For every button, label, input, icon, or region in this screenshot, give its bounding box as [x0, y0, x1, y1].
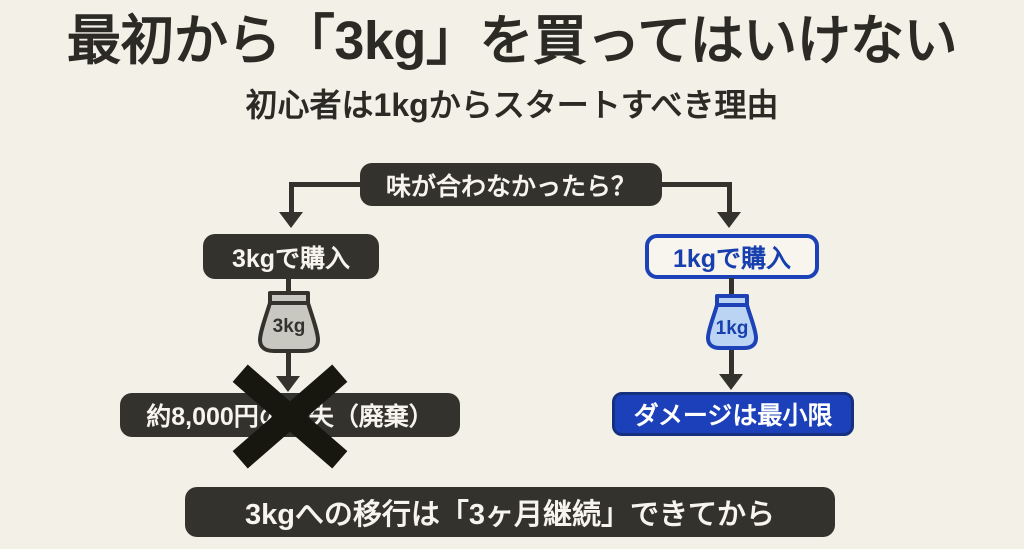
connector-decision-to-right	[660, 182, 732, 187]
page-subtitle: 初心者は1kgからスタートすべき理由	[0, 88, 1024, 123]
damage-outcome-node: ダメージは最小限	[612, 392, 854, 436]
buy-1kg-node: 1kgで購入	[645, 234, 819, 279]
arrowhead-to-buy-1kg	[717, 212, 741, 228]
buy-3kg-node: 3kgで購入	[203, 234, 379, 279]
arrowhead-to-damage	[719, 374, 743, 390]
connector-decision-to-right-vertical	[727, 182, 732, 214]
connector-decision-to-left	[289, 182, 362, 187]
bag-3kg-icon: 3kg	[254, 288, 324, 356]
arrowhead-to-buy-3kg	[279, 212, 303, 228]
page-title: 最初から「3kg」を買ってはいけない	[0, 12, 1024, 71]
infographic-canvas: 最初から「3kg」を買ってはいけない 初心者は1kgからスタートすべき理由 味が…	[0, 0, 1024, 549]
bag-1kg-label: 1kg	[703, 318, 761, 340]
loss-outcome-node: 約8,000円の損失（廃棄）	[120, 393, 460, 437]
bag-3kg-label: 3kg	[254, 316, 324, 338]
bag-1kg-icon: 1kg	[703, 292, 761, 352]
connector-decision-to-left-vertical	[289, 182, 294, 214]
arrowhead-to-loss	[276, 376, 300, 392]
decision-node: 味が合わなかったら？	[360, 163, 662, 206]
footer-advice-node: 3kgへの移行は「3ヶ月継続」できてから	[185, 487, 835, 537]
